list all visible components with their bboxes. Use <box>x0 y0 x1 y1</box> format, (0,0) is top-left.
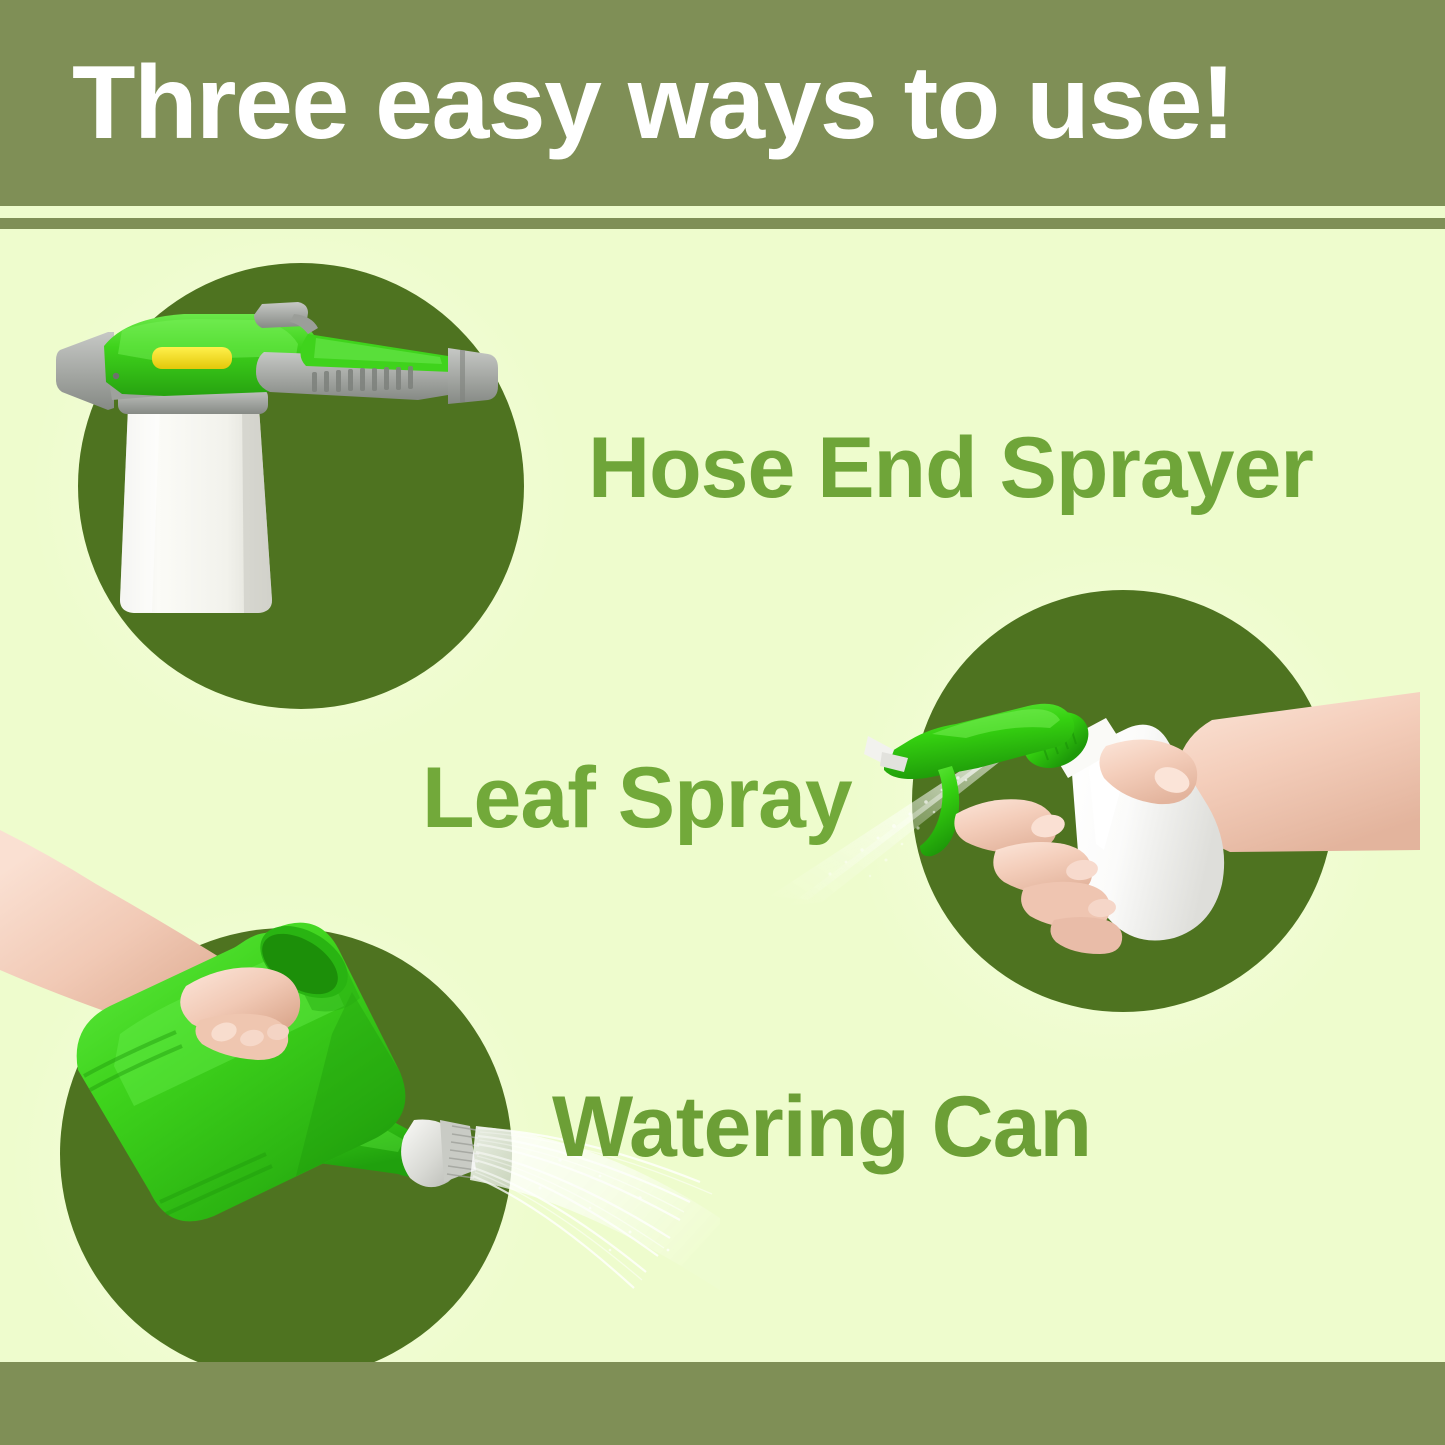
section-label-hose-end-sprayer: Hose End Sprayer <box>588 425 1313 511</box>
product-disc-hose-end-sprayer <box>78 263 524 709</box>
page-title: Three easy ways to use! <box>0 51 1234 155</box>
header-band: Three easy ways to use! <box>0 0 1445 206</box>
product-disc-watering-can <box>60 928 512 1380</box>
section-label-leaf-spray: Leaf Spray <box>422 755 852 841</box>
product-disc-leaf-spray <box>912 590 1334 1012</box>
footer-band <box>0 1362 1445 1445</box>
section-label-watering-can: Watering Can <box>552 1084 1091 1170</box>
poster-canvas: Hose End Sprayer Leaf Spray Watering Can… <box>0 0 1445 1445</box>
header-divider-rule <box>0 218 1445 229</box>
